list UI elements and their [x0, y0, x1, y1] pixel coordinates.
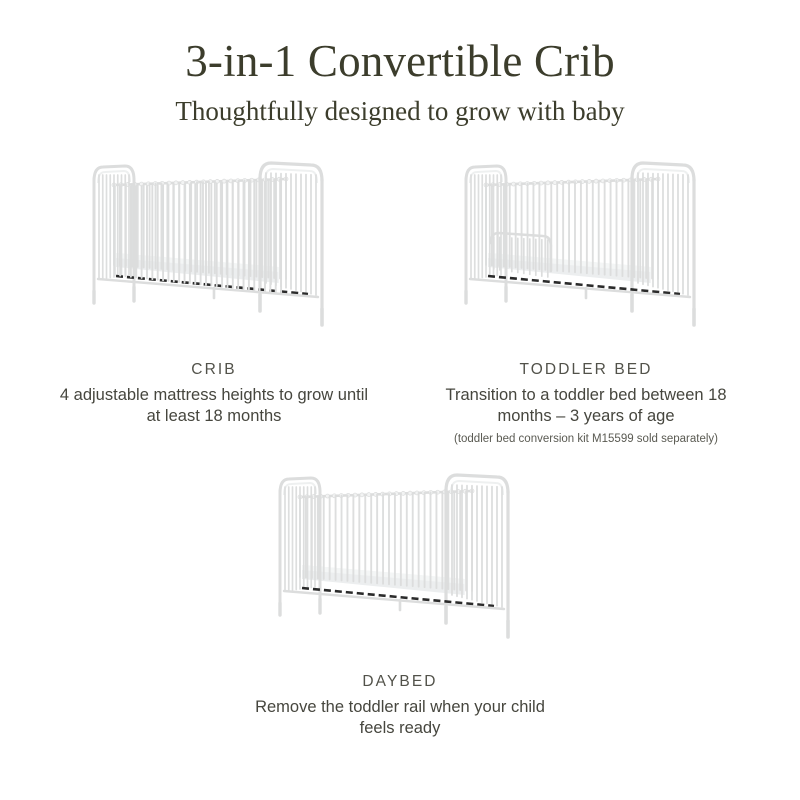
header: 3-in-1 Convertible Crib Thoughtfully des…: [0, 0, 800, 127]
crib-svg: [64, 149, 364, 349]
configuration-row-top: CRIB 4 adjustable mattress heights to gr…: [0, 149, 800, 447]
right-end-panel: [632, 163, 694, 325]
caption-toddler-bed: TODDLER BED Transition to a toddler bed …: [431, 361, 741, 447]
configuration-description: Transition to a toddler bed between 18 m…: [431, 385, 741, 429]
daybed-illustration: [250, 461, 550, 661]
configuration-row-bottom: DAYBED Remove the toddler rail when your…: [0, 461, 800, 740]
configuration-description: 4 adjustable mattress heights to grow un…: [59, 385, 369, 429]
page-subtitle: Thoughtfully designed to grow with baby: [0, 97, 800, 127]
configuration-label: TODDLER BED: [431, 361, 741, 380]
crib-svg: [436, 149, 736, 349]
crib-svg: [250, 461, 550, 661]
crib-illustration: [64, 149, 364, 349]
configuration-label: CRIB: [59, 361, 369, 380]
caption-daybed: DAYBED Remove the toddler rail when your…: [245, 673, 555, 740]
configuration-fine-print: (toddler bed conversion kit M15599 sold …: [431, 432, 741, 447]
toddler-bed-illustration: [436, 149, 736, 349]
configuration-description: Remove the toddler rail when your child …: [245, 697, 555, 741]
configuration-label: DAYBED: [245, 673, 555, 692]
caption-crib: CRIB 4 adjustable mattress heights to gr…: [59, 361, 369, 428]
page-title: 3-in-1 Convertible Crib: [0, 38, 800, 85]
configuration-card-daybed: DAYBED Remove the toddler rail when your…: [235, 461, 565, 740]
right-end-panel: [260, 163, 322, 325]
configuration-card-toddler-bed: TODDLER BED Transition to a toddler bed …: [421, 149, 751, 447]
configuration-card-crib: CRIB 4 adjustable mattress heights to gr…: [49, 149, 379, 428]
right-end-panel: [446, 475, 508, 637]
infographic-page: 3-in-1 Convertible Crib Thoughtfully des…: [0, 0, 800, 800]
